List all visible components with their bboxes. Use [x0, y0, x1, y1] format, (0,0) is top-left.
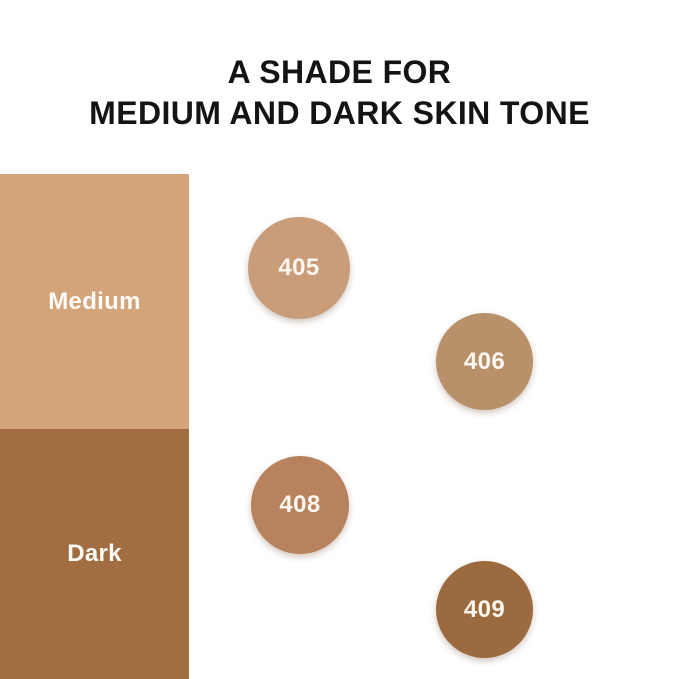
shade-swatch-label-406: 406 [464, 348, 505, 376]
shade-swatch-409[interactable]: 409 [436, 561, 533, 658]
shade-swatch-406[interactable]: 406 [436, 313, 533, 410]
shade-swatch-408[interactable]: 408 [251, 456, 349, 554]
tone-block-dark: Dark [0, 429, 189, 679]
shade-chart-canvas: A SHADE FOR MEDIUM AND DARK SKIN TONE Me… [0, 0, 679, 679]
page-title-line-2: MEDIUM AND DARK SKIN TONE [0, 93, 679, 134]
tone-block-medium: Medium [0, 174, 189, 429]
shade-swatch-405[interactable]: 405 [248, 217, 350, 319]
tone-label-dark: Dark [67, 540, 122, 568]
shade-swatch-label-405: 405 [278, 254, 319, 282]
page-title: A SHADE FOR MEDIUM AND DARK SKIN TONE [0, 52, 679, 134]
tone-column: Medium Dark [0, 174, 189, 679]
tone-label-medium: Medium [48, 288, 140, 316]
shade-swatch-label-409: 409 [464, 596, 505, 624]
shade-swatch-label-408: 408 [279, 491, 320, 519]
page-title-line-1: A SHADE FOR [0, 52, 679, 93]
